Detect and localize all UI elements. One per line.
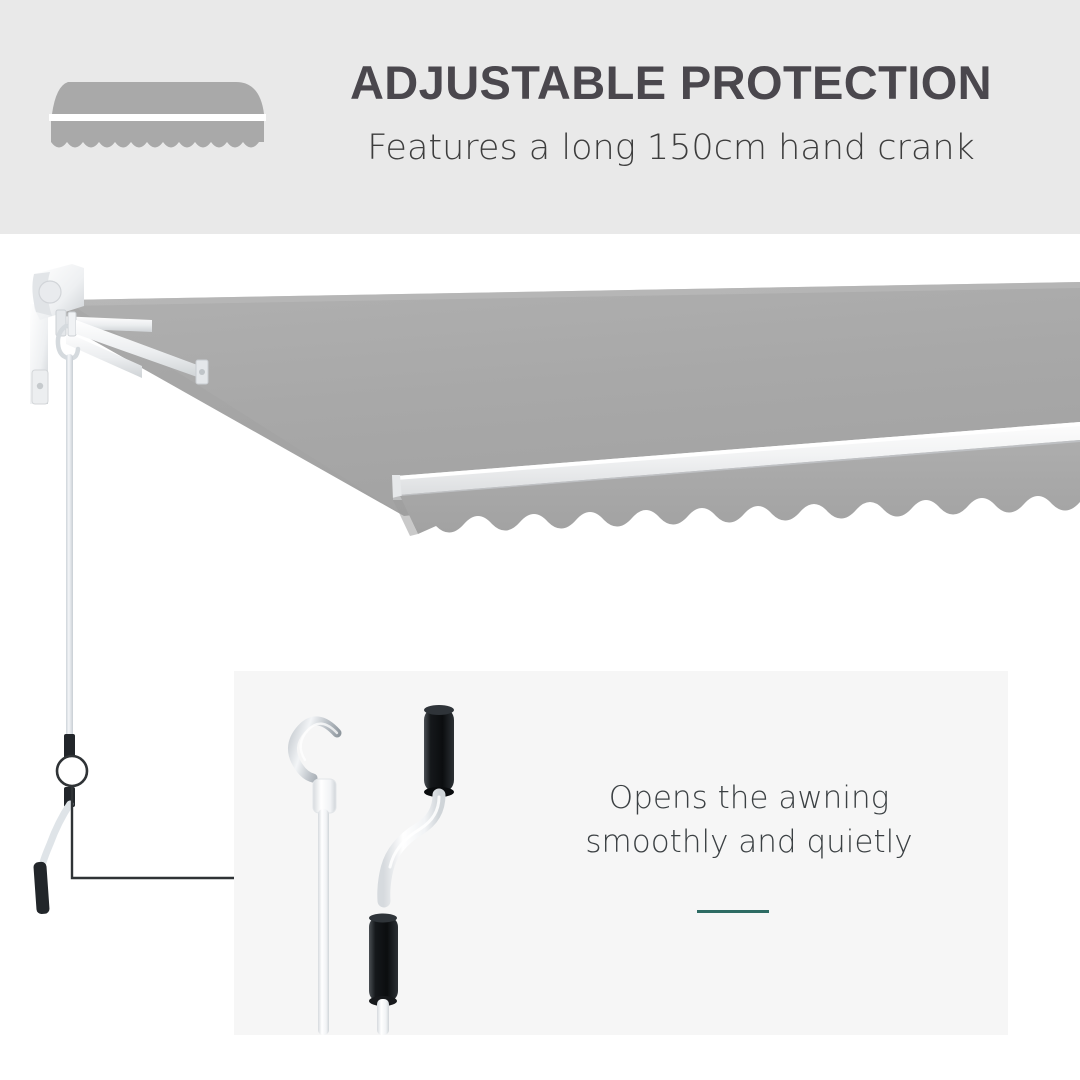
crank-rod (369, 705, 454, 1035)
inset-accent-rule (697, 910, 769, 913)
header-text-block: ADJUSTABLE PROTECTION Features a long 15… (286, 58, 1056, 169)
page-subtitle: Features a long 150cm hand crank (286, 127, 1056, 169)
inset-caption-line-1: Opens the awning (534, 776, 964, 820)
infographic-page: ADJUSTABLE PROTECTION Features a long 15… (0, 0, 1080, 1080)
crank-handle-callout-marker (57, 756, 87, 786)
hook-rod (292, 721, 337, 1035)
hand-crank-rod (33, 354, 75, 914)
callout-leader-line (72, 786, 234, 878)
callout-group (57, 756, 234, 878)
inset-caption: Opens the awning smoothly and quietly (534, 776, 964, 864)
header-band: ADJUSTABLE PROTECTION Features a long 15… (0, 0, 1080, 234)
awning-thumbnail-icon (38, 68, 270, 158)
page-title: ADJUSTABLE PROTECTION (286, 58, 1056, 109)
inset-detail-panel: Opens the awning smoothly and quietly (234, 671, 1008, 1035)
inset-caption-line-2: smoothly and quietly (534, 820, 964, 864)
